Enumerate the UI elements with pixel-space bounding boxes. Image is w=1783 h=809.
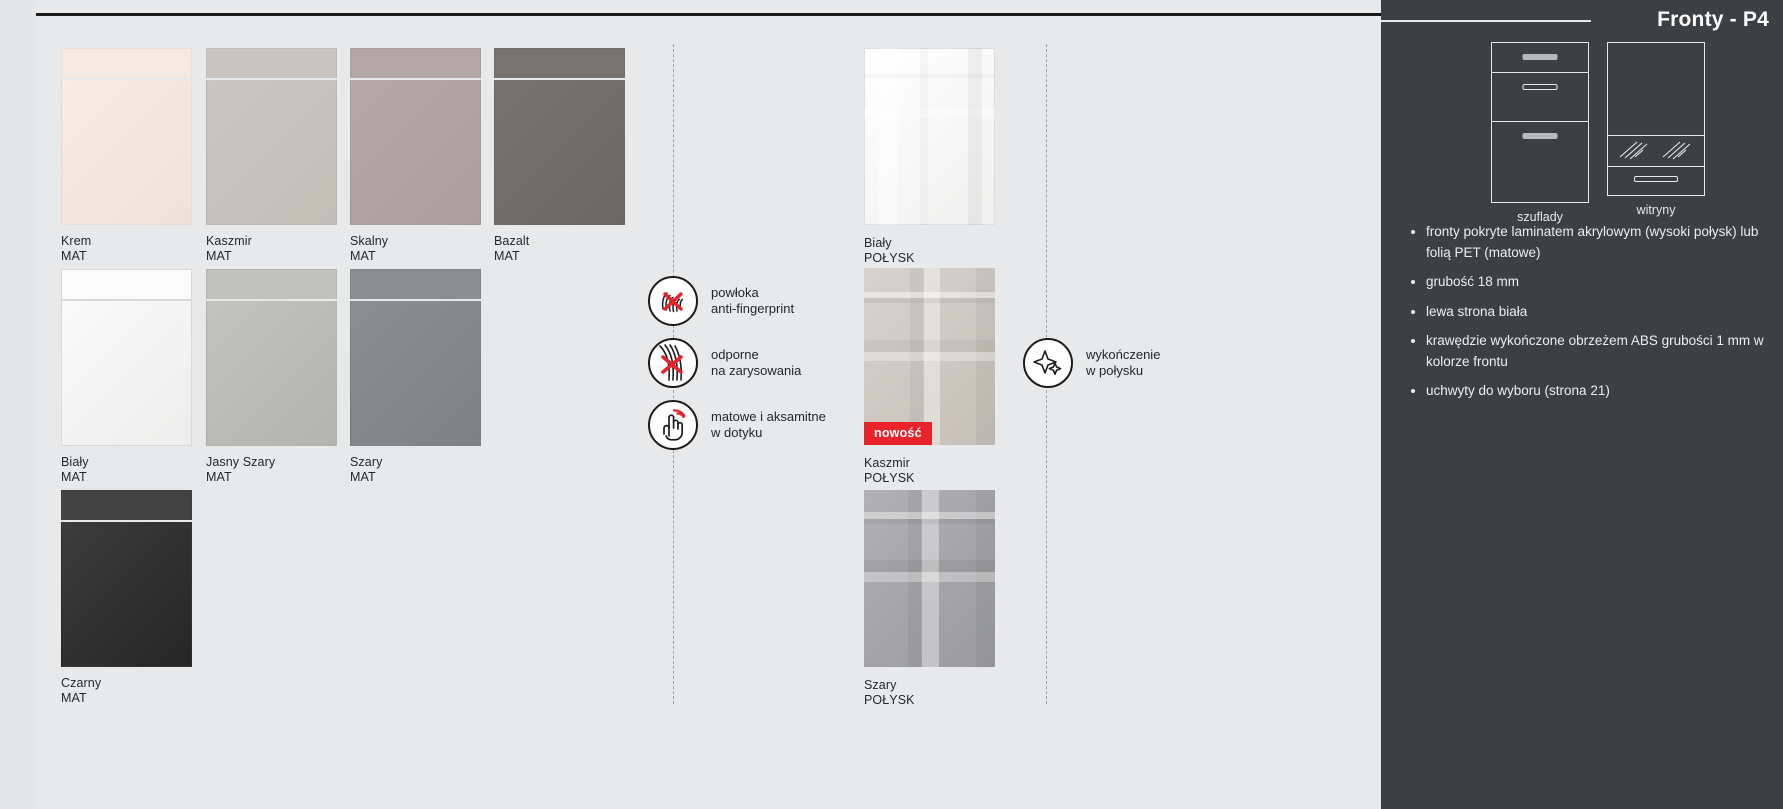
cabinet-szuflady: szuflady xyxy=(1491,42,1589,224)
scratch-no-icon xyxy=(648,338,698,388)
feature-scratch-resistant: odporne na zarysowania xyxy=(648,338,801,388)
swatch-caption: Krem MAT xyxy=(61,234,192,263)
gloss-surface xyxy=(864,490,995,667)
swatch-tile xyxy=(350,48,481,225)
swatch-door-body xyxy=(494,78,625,225)
sparkle-icon xyxy=(1023,338,1073,388)
swatch-caption: Czarny MAT xyxy=(61,676,192,705)
feature-label: matowe i aksamitne w dotyku xyxy=(711,409,826,441)
swatch-caption: Biały POŁYSK xyxy=(864,236,995,265)
swatch-drawer-band xyxy=(350,48,481,78)
feature-anti-fingerprint: powłoka anti-fingerprint xyxy=(648,276,794,326)
swatch-tile xyxy=(61,48,192,225)
swatch-szary-polysk[interactable]: Szary POŁYSK xyxy=(864,490,995,707)
swatch-tile xyxy=(350,269,481,446)
swatch-tile xyxy=(494,48,625,225)
spec-item: grubość 18 mm xyxy=(1426,272,1767,293)
swatch-szary-mat[interactable]: Szary MAT xyxy=(350,269,481,484)
swatch-caption: Kaszmir MAT xyxy=(206,234,337,263)
swatch-tile xyxy=(206,269,337,446)
spec-list: fronty pokryte laminatem akrylowym (wyso… xyxy=(1409,222,1767,402)
swatch-bialy-polysk[interactable]: Biały POŁYSK xyxy=(864,48,995,265)
top-divider-rule xyxy=(36,13,1381,16)
swatch-door-body xyxy=(350,78,481,225)
swatch-drawer-band xyxy=(206,48,337,78)
glass-cabinet-icon xyxy=(1607,42,1705,196)
swatch-tile xyxy=(61,490,192,667)
swatch-tile: nowość xyxy=(864,268,995,445)
main-content: Krem MAT Kaszmir MAT Skalny MAT Bazalt M… xyxy=(0,0,1381,809)
swatch-caption: Jasny Szary MAT xyxy=(206,455,337,484)
swatch-jasny-szary-mat[interactable]: Jasny Szary MAT xyxy=(206,269,337,484)
swatch-drawer-band xyxy=(350,269,481,299)
swatch-czarny-mat[interactable]: Czarny MAT xyxy=(61,490,192,705)
cabinet-witryny: witryny xyxy=(1607,42,1705,224)
spec-item: uchwyty do wyboru (strona 21) xyxy=(1426,381,1767,402)
left-gutter xyxy=(0,0,36,809)
gloss-surface xyxy=(864,48,995,225)
cabinet-label: witryny xyxy=(1637,203,1676,217)
swatch-door-body xyxy=(61,299,192,446)
spec-item: fronty pokryte laminatem akrylowym (wyso… xyxy=(1426,222,1767,263)
swatch-door-body xyxy=(61,78,192,225)
swatch-skalny-mat[interactable]: Skalny MAT xyxy=(350,48,481,263)
swatch-caption: Biały MAT xyxy=(61,455,192,484)
gloss-finish-note: wykończenie w połysku xyxy=(1023,338,1160,388)
swatch-tile xyxy=(864,48,995,225)
swatch-door-body xyxy=(206,299,337,446)
swatch-kaszmir-polysk[interactable]: nowość Kaszmir POŁYSK xyxy=(864,268,995,485)
feature-label: powłoka anti-fingerprint xyxy=(711,285,794,317)
feature-matte-velvet-touch: matowe i aksamitne w dotyku xyxy=(648,400,826,450)
touch-hand-icon xyxy=(648,400,698,450)
spec-item: lewa strona biała xyxy=(1426,302,1767,323)
swatch-caption: Skalny MAT xyxy=(350,234,481,263)
sidebar-header: Fronty - P4 xyxy=(1381,4,1769,36)
gloss-surface xyxy=(864,268,995,445)
swatch-door-body xyxy=(61,520,192,667)
swatch-bazalt-mat[interactable]: Bazalt MAT xyxy=(494,48,625,263)
page-title: Fronty - P4 xyxy=(1657,8,1769,32)
swatch-tile xyxy=(206,48,337,225)
drawer-cabinet-icon xyxy=(1491,42,1589,203)
swatch-drawer-band xyxy=(494,48,625,78)
sidebar-panel: Fronty - P4 szuflady xyxy=(1381,0,1783,809)
swatch-bialy-mat[interactable]: Biały MAT xyxy=(61,269,192,484)
sidebar-header-rule xyxy=(1379,20,1591,22)
swatch-drawer-band xyxy=(61,269,192,299)
swatch-drawer-band xyxy=(61,490,192,520)
swatch-drawer-band xyxy=(61,48,192,78)
swatch-door-body xyxy=(206,78,337,225)
badge-nowosc: nowość xyxy=(864,422,932,445)
swatch-kaszmir-mat[interactable]: Kaszmir MAT xyxy=(206,48,337,263)
spec-item: krawędzie wykończone obrzeżem ABS gruboś… xyxy=(1426,331,1767,372)
swatch-tile xyxy=(61,269,192,446)
swatch-door-body xyxy=(350,299,481,446)
swatch-drawer-band xyxy=(206,269,337,299)
swatch-caption: Bazalt MAT xyxy=(494,234,625,263)
spec-bullet-list: fronty pokryte laminatem akrylowym (wyso… xyxy=(1409,222,1767,411)
swatch-caption: Kaszmir POŁYSK xyxy=(864,456,995,485)
swatch-caption: Szary POŁYSK xyxy=(864,678,995,707)
fingerprint-no-icon xyxy=(648,276,698,326)
cabinet-diagrams: szuflady xyxy=(1491,42,1705,224)
gloss-note-label: wykończenie w połysku xyxy=(1086,347,1160,379)
feature-label: odporne na zarysowania xyxy=(711,347,801,379)
swatch-tile xyxy=(864,490,995,667)
swatch-krem-mat[interactable]: Krem MAT xyxy=(61,48,192,263)
swatch-caption: Szary MAT xyxy=(350,455,481,484)
catalog-page: Krem MAT Kaszmir MAT Skalny MAT Bazalt M… xyxy=(0,0,1783,809)
